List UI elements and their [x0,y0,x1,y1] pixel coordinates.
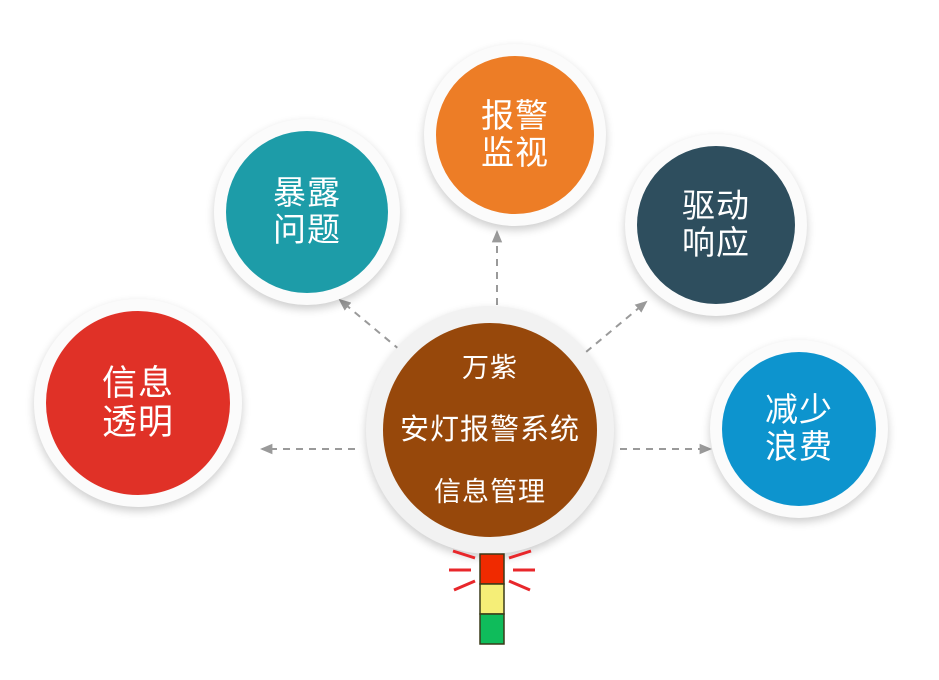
satellite-disc-alarm-monitor: 报警 监视 [436,56,594,214]
satellite-label-alarm-monitor-line-1: 报警 [481,98,549,135]
satellite-node-reduce-waste[interactable]: 减少 浪费 [710,340,888,518]
satellite-node-expose-problem[interactable]: 暴露 问题 [214,119,400,305]
satellite-label-drive-response-line-1: 驱动 [682,188,750,225]
satellite-label-drive-response-line-2: 响应 [682,225,750,262]
andon-lamp-stack [480,554,504,644]
satellite-label-info-transparent-line-1: 信息 [102,364,174,403]
andon-lamp-green [480,614,504,644]
satellite-node-drive-response[interactable]: 驱动 响应 [625,134,807,316]
center-node-line-2: 安灯报警系统 [400,414,580,446]
center-node[interactable]: 万紫 安灯报警系统 信息管理 [366,306,614,554]
connector-to-drive-response [586,302,646,352]
satellite-disc-drive-response: 驱动 响应 [637,146,795,304]
satellite-node-info-transparent[interactable]: 信息 透明 [34,299,242,507]
connector-to-expose-problem [340,300,400,350]
satellite-label-info-transparent-line-2: 透明 [102,403,174,442]
satellite-label-reduce-waste-line-1: 减少 [765,392,833,429]
satellite-label-reduce-waste-line-2: 浪费 [765,429,833,466]
center-node-line-3: 信息管理 [434,477,546,507]
andon-system-diagram: 万紫 安灯报警系统 信息管理 报警 监视 暴露 问题 驱动 响应 信息 透明 [0,0,939,680]
satellite-disc-expose-problem: 暴露 问题 [226,131,388,293]
center-node-line-1: 万紫 [462,353,518,383]
andon-lamp-red [480,554,504,584]
satellite-label-expose-problem-line-1: 暴露 [273,175,341,212]
satellite-label-alarm-monitor-line-2: 监视 [481,135,549,172]
andon-lamp-yellow [480,584,504,614]
satellite-disc-info-transparent: 信息 透明 [46,311,230,495]
andon-light-icon [449,548,535,648]
satellite-node-alarm-monitor[interactable]: 报警 监视 [424,44,606,226]
satellite-label-expose-problem-line-2: 问题 [273,212,341,249]
center-node-disc: 万紫 安灯报警系统 信息管理 [383,323,597,537]
satellite-disc-reduce-waste: 减少 浪费 [722,352,876,506]
